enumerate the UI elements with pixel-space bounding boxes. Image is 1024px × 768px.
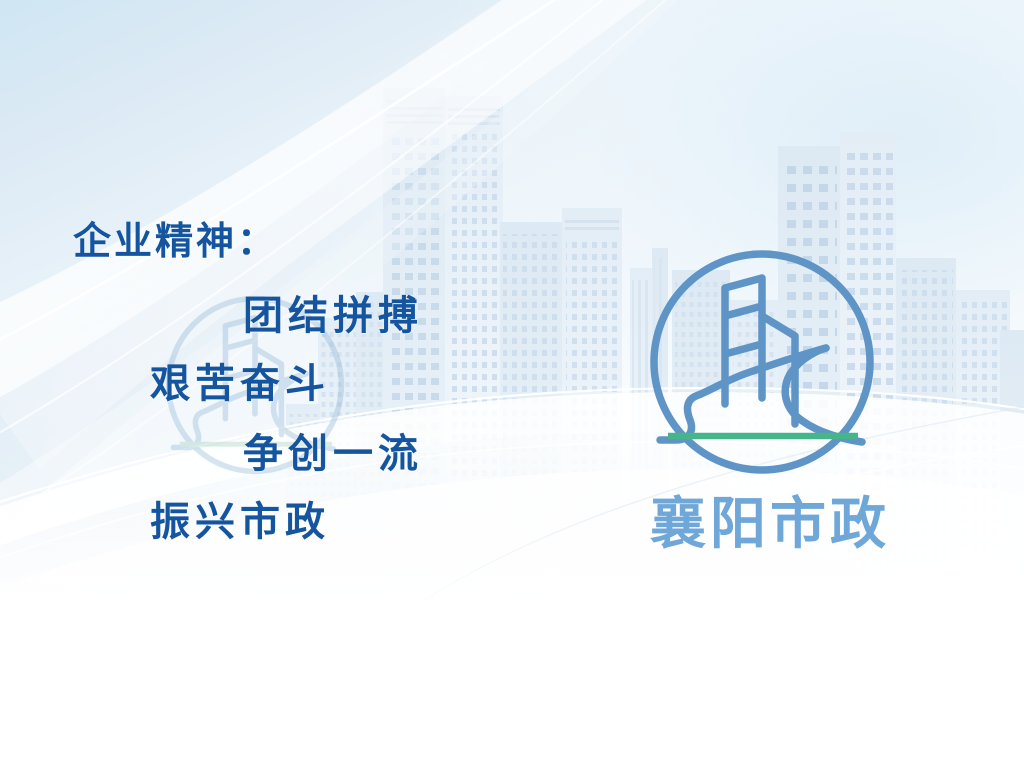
spirit-slogan-2: 艰苦奋斗	[150, 364, 330, 404]
spirit-slogan-4: 振兴市政	[150, 502, 330, 542]
spirit-slogan-3: 争创一流	[243, 434, 423, 474]
spirit-heading: 企业精神：	[73, 222, 278, 260]
company-name: 襄阳市政	[650, 497, 890, 553]
spirit-slogan-1: 团结拼搏	[243, 296, 423, 336]
slide-canvas: 企业精神： 团结拼搏 艰苦奋斗 争创一流 振兴市政 襄阳市政	[0, 0, 1024, 768]
